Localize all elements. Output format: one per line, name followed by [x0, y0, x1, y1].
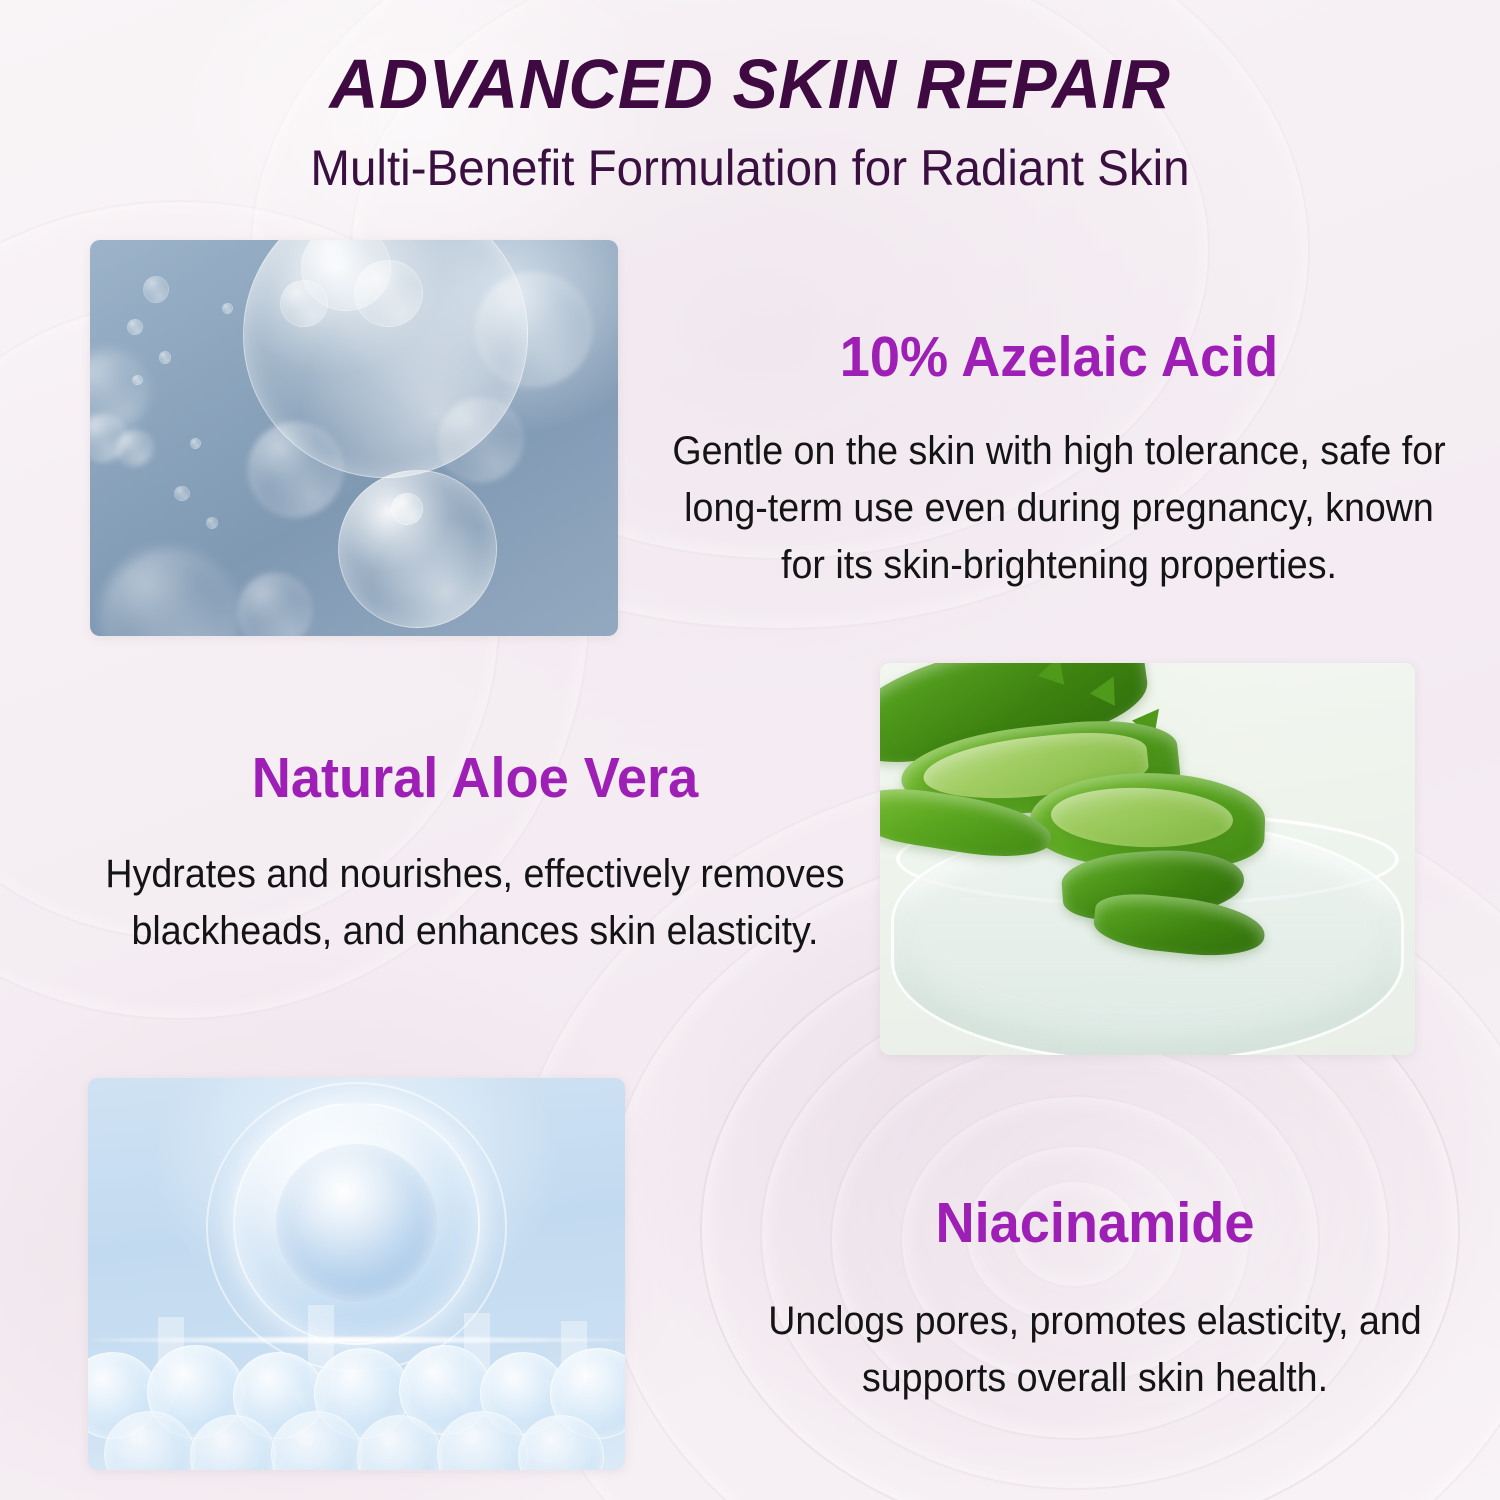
infographic-page: ADVANCED SKIN REPAIR Multi-Benefit Formu…: [0, 0, 1500, 1500]
gel-droplet: [233, 1102, 480, 1345]
header: ADVANCED SKIN REPAIR Multi-Benefit Formu…: [0, 0, 1500, 195]
page-subtitle: Multi-Benefit Formulation for Radiant Sk…: [38, 141, 1463, 195]
ingredient-body-niacinamide: Unclogs pores, promotes elasticity, and …: [724, 1293, 1467, 1407]
ingredient-block-azelaic-acid: 10% Azelaic Acid Gentle on the skin with…: [636, 327, 1482, 594]
ingredient-body-azelaic-acid: Gentle on the skin with high tolerance, …: [661, 423, 1456, 593]
ingredient-title-niacinamide: Niacinamide: [720, 1193, 1471, 1253]
ingredient-title-azelaic-acid: 10% Azelaic Acid: [657, 327, 1461, 387]
water-bubbles-photo: [90, 240, 618, 636]
aloe-vera-bowl-photo: [880, 663, 1415, 1055]
page-title: ADVANCED SKIN REPAIR: [23, 48, 1478, 121]
ingredient-block-aloe-vera: Natural Aloe Vera Hydrates and nourishes…: [80, 748, 870, 960]
ingredient-block-niacinamide: Niacinamide Unclogs pores, promotes elas…: [700, 1193, 1490, 1407]
ingredient-body-aloe-vera: Hydrates and nourishes, effectively remo…: [104, 846, 847, 960]
ingredient-title-aloe-vera: Natural Aloe Vera: [100, 748, 851, 808]
gel-droplet-skin-absorption-photo: [88, 1078, 625, 1470]
